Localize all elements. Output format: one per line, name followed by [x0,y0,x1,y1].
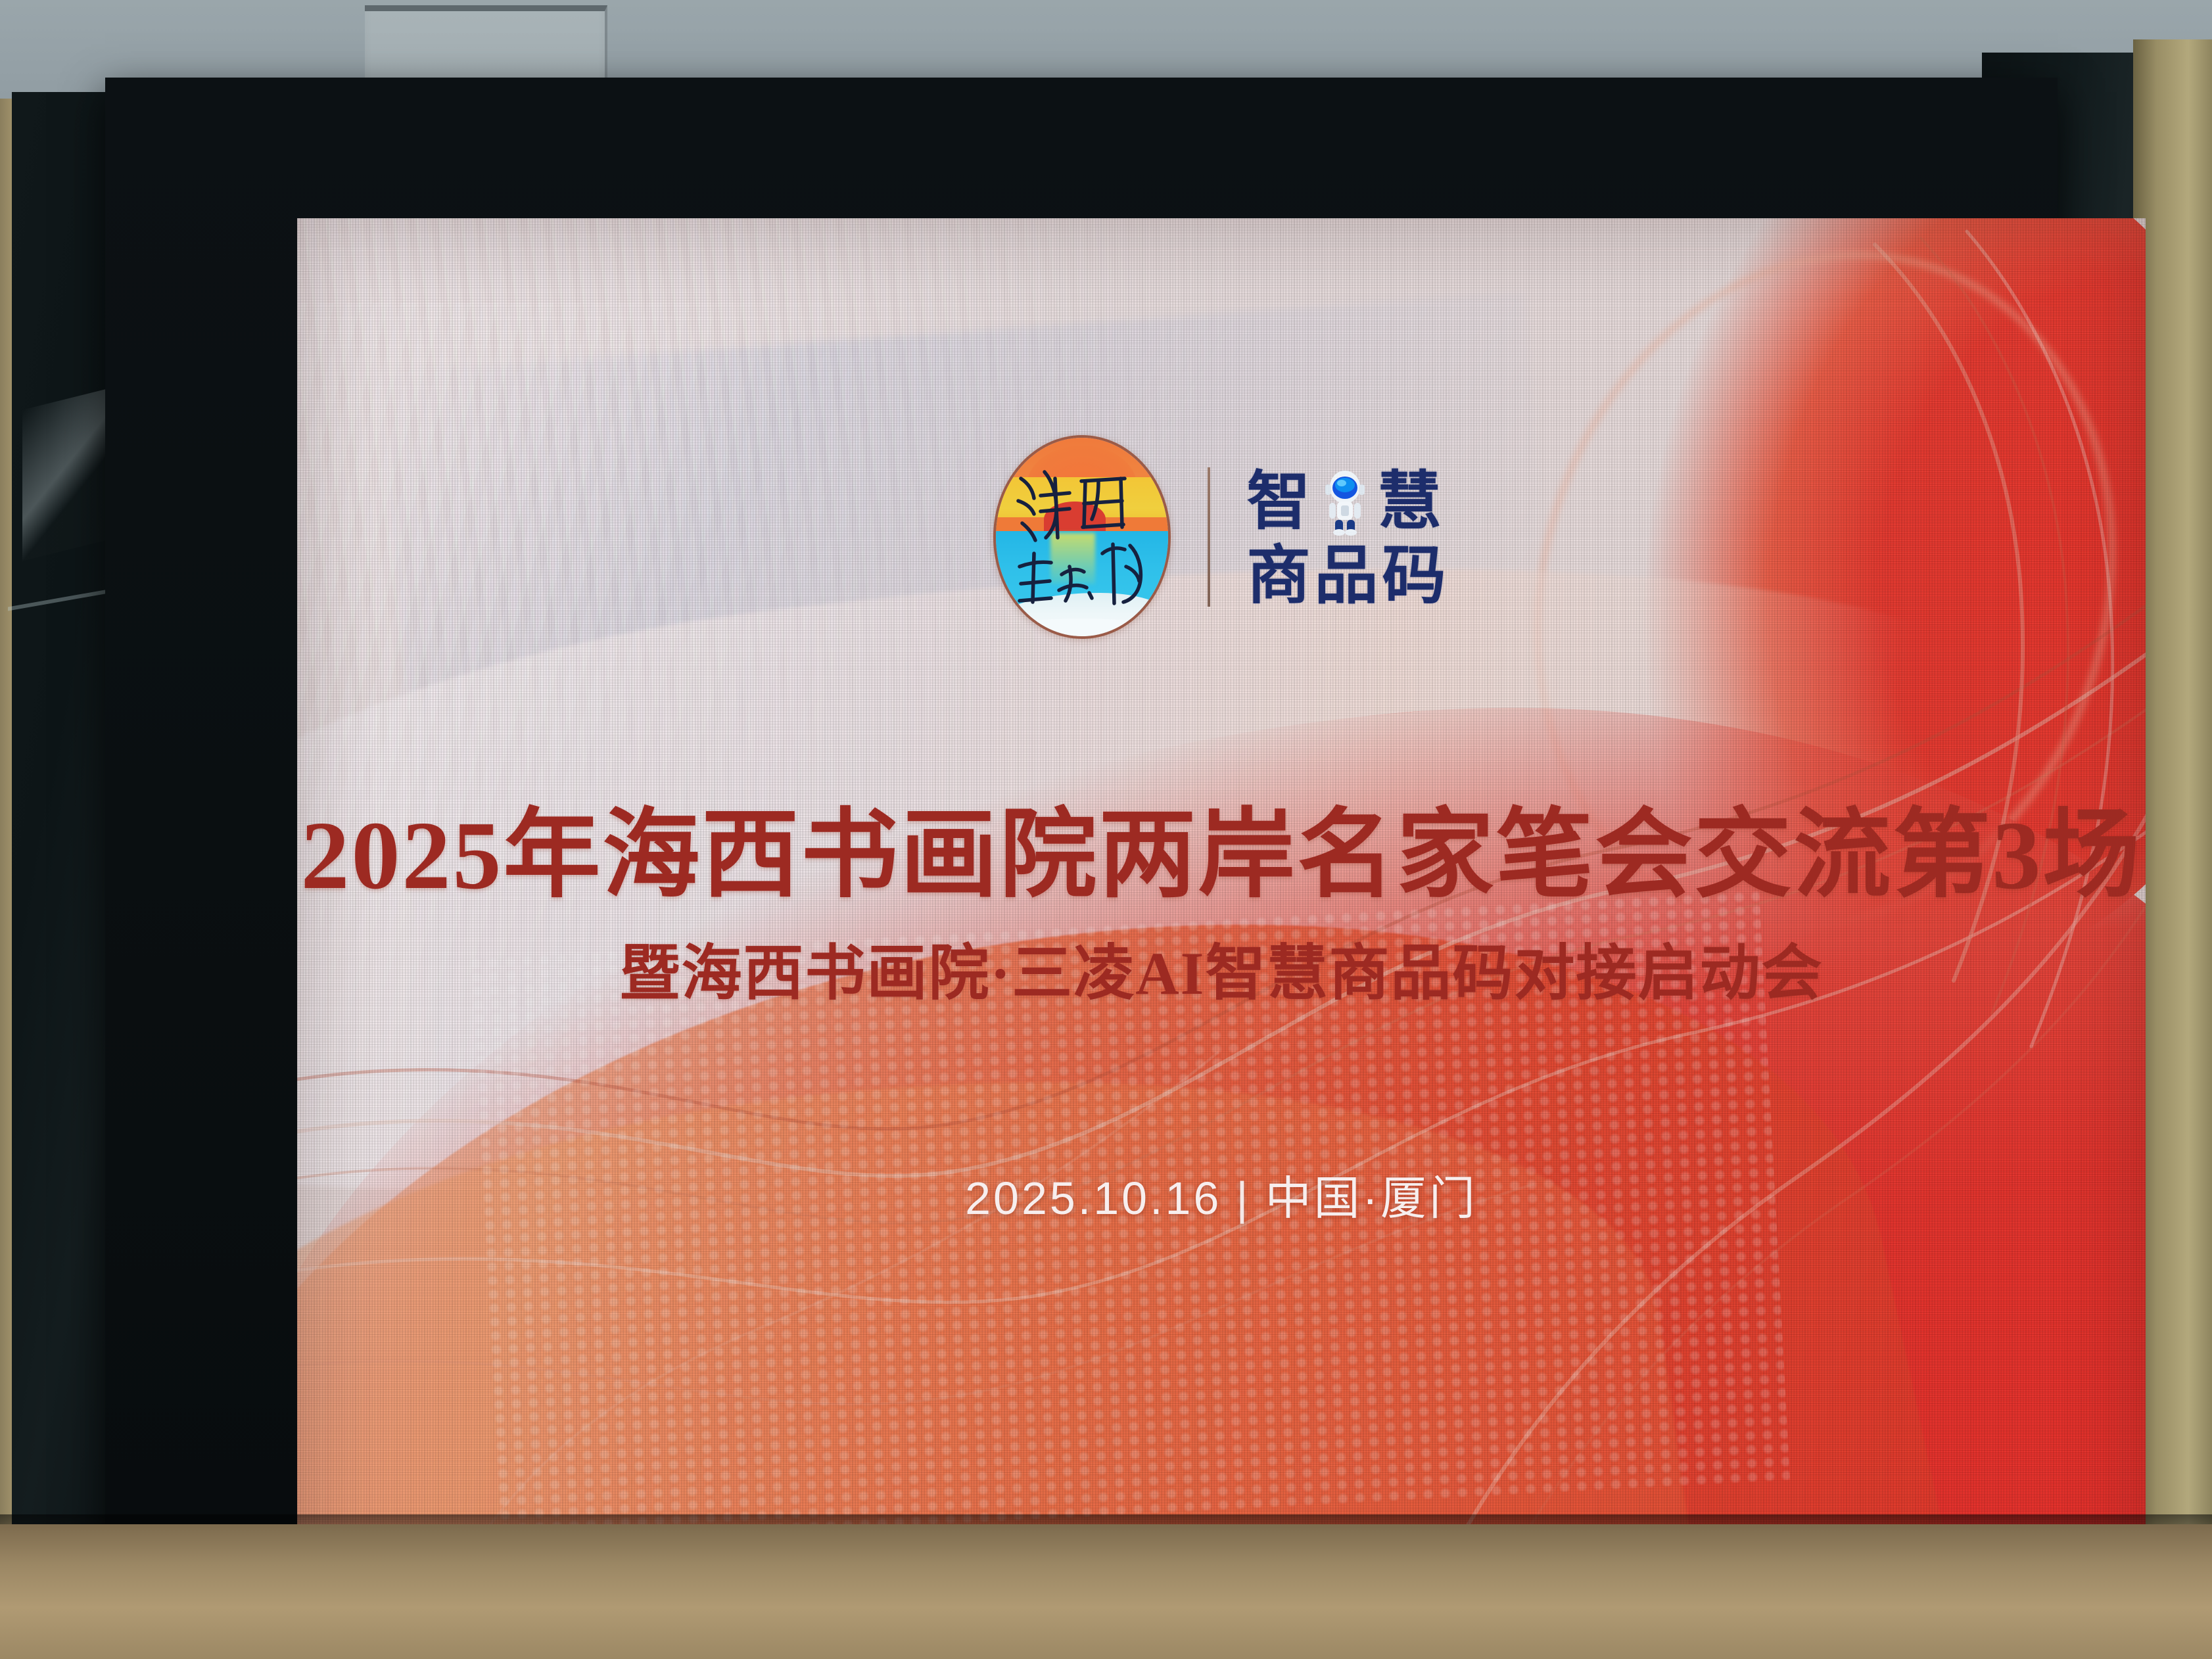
led-display-screen: 智 [297,218,2146,1627]
floor [0,1524,2212,1659]
slide-title: 2025年海西书画院两岸名家笔会交流第3场 [297,801,2146,912]
logo-divider [1208,467,1210,607]
robot-mascot-icon [1321,467,1369,536]
brand-line-one: 智 [1247,467,1450,536]
slide-meta-line: 2025.10.16|中国·厦门 [297,1175,2146,1221]
brand-char-zhi: 智 [1247,469,1312,533]
led-display-bezel: 智 [105,78,2058,1589]
event-location: 中国·厦门 [1265,1173,1478,1224]
logo-lockup-row: 智 [297,435,2146,639]
brand-lockup: 智 [1247,467,1450,607]
brand-line-two: 商品码 [1247,544,1450,607]
presentation-slide: 智 [297,218,2146,1627]
event-date: 2025.10.16 [965,1173,1221,1224]
emblem-calligraphy [996,438,1168,636]
brand-char-hui: 慧 [1378,469,1443,533]
academy-emblem [993,435,1171,639]
slide-content: 智 [297,218,2146,1627]
meta-separator: | [1221,1175,1265,1221]
conference-room-scene: 智 [0,0,2212,1659]
slide-subtitle: 暨海西书画院·三凌AI智慧商品码对接启动会 [297,937,2146,1010]
